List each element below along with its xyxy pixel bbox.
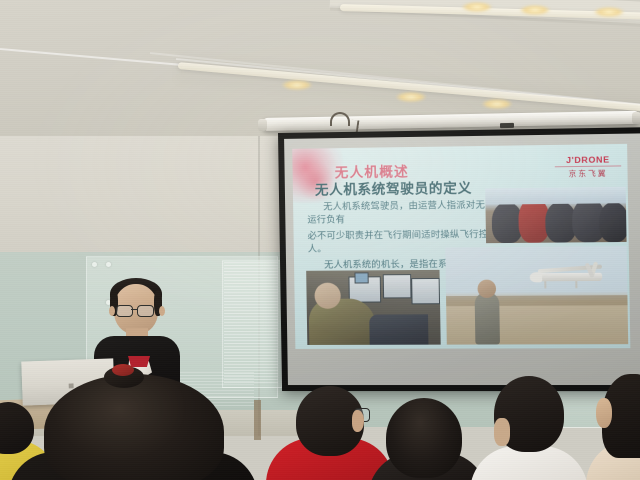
whiteboard-clip-2 <box>106 262 111 267</box>
slide-logo-cn: 京东飞翼 <box>555 167 622 179</box>
roller-switch[interactable] <box>500 123 514 128</box>
uav-runway-ground <box>446 301 628 344</box>
team-photo-sky <box>485 187 626 205</box>
door-jamb <box>254 400 261 440</box>
ceiling-lamp-2 <box>520 5 550 15</box>
gcs-monitor-2 <box>383 274 412 298</box>
roller-cap-left <box>258 119 267 131</box>
team-figure-5 <box>599 202 627 242</box>
slide-subtitle: 无人机系统驾驶员的定义 <box>315 177 472 199</box>
presenter-ear-right <box>159 306 165 316</box>
slide-photo-ground-control <box>306 270 441 345</box>
uav-observer-body <box>475 292 500 345</box>
audience-face-right-edge <box>596 398 612 428</box>
projector-screen-surface: 无人机概述 无人机系统驾驶员的定义 无人机系统驾驶员，由运营人指派对无人机的运行… <box>284 133 640 385</box>
gcs-desk <box>369 314 428 344</box>
audience-head-shape-ponytail <box>386 398 462 478</box>
presenter-glasses-left-lens <box>116 305 133 317</box>
uav-landing-gear-front <box>544 281 546 288</box>
presenter-glasses-bridge <box>131 309 137 310</box>
lecture-room-photo: 无人机概述 无人机系统驾驶员的定义 无人机系统驾驶员，由运营人指派对无人机的运行… <box>0 0 640 480</box>
projector-screen: 无人机概述 无人机系统驾驶员的定义 无人机系统驾驶员，由运营人指派对无人机的运行… <box>278 127 640 391</box>
uav-landing-gear-rear <box>575 281 577 288</box>
uav-nose <box>530 272 543 282</box>
ceiling-lamp-3 <box>594 7 624 17</box>
slide-logo: J'DRONE 京东飞翼 <box>555 154 622 179</box>
gcs-operator-head <box>314 283 341 309</box>
audience-neck-white-shirt <box>494 418 510 446</box>
projected-slide: 无人机概述 无人机系统驾驶员的定义 无人机系统驾驶员，由运营人指派对无人机的运行… <box>292 144 630 349</box>
slide-photo-uav-landing <box>445 246 628 345</box>
ceiling-lamp-1 <box>462 2 492 12</box>
uav-horizon-line <box>446 295 628 306</box>
audience-face-red-shirt <box>352 410 364 432</box>
whiteboard-sheen-2 <box>224 262 278 384</box>
presenter-glasses-right-lens <box>137 305 154 317</box>
gcs-monitor-3 <box>411 278 440 304</box>
audience-head-shape-center-left <box>44 374 224 480</box>
uav-observer-head <box>477 280 496 298</box>
audience-hair-tie <box>112 364 134 376</box>
presenter-ear-left <box>109 306 115 316</box>
slide-logo-en: J'DRONE <box>555 154 622 165</box>
whiteboard-clip-1 <box>92 262 97 267</box>
roller-cap-right <box>632 112 640 124</box>
slide-photo-team <box>485 187 626 243</box>
gcs-monitor-small <box>354 272 368 283</box>
